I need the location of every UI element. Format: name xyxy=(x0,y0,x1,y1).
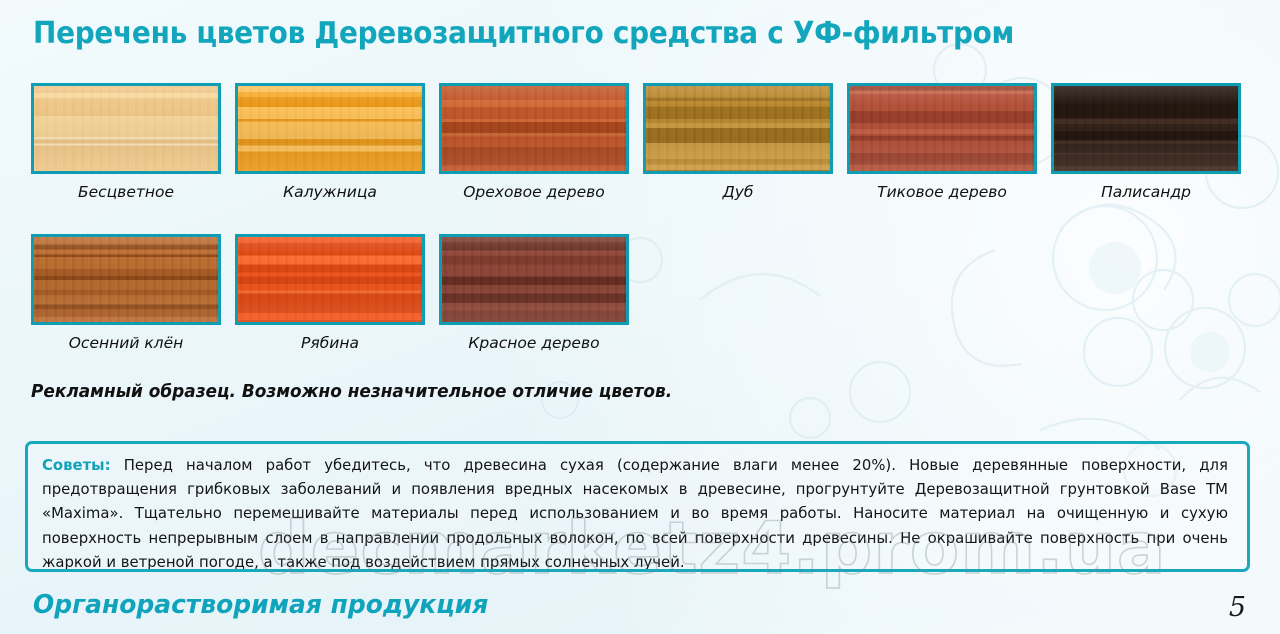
swatch-label: Ореховое дерево xyxy=(439,183,629,201)
swatch-label: Палисандр xyxy=(1051,183,1241,201)
wood-grain-sheen xyxy=(850,86,1034,171)
swatch-chip[interactable] xyxy=(439,83,629,174)
wood-grain-sheen xyxy=(1054,86,1238,171)
swatch-item-ryabina[interactable]: Рябина xyxy=(235,234,425,352)
swatch-chip[interactable] xyxy=(1051,83,1241,174)
wood-grain-texture xyxy=(34,86,218,171)
wood-grain-sheen xyxy=(442,86,626,171)
swatch-row-1: Бесцветное Калужница Ореховое дерево Дуб xyxy=(31,83,1241,201)
swatch-row-2: Осенний клён Рябина Красное дерево xyxy=(31,234,629,352)
swatch-chip[interactable] xyxy=(439,234,629,325)
wood-grain-texture xyxy=(442,237,626,322)
swatch-label: Осенний клён xyxy=(31,334,221,352)
wood-grain-texture xyxy=(850,86,1034,171)
wood-grain-texture xyxy=(238,237,422,322)
wood-grain-texture xyxy=(238,86,422,171)
swatch-label: Бесцветное xyxy=(31,183,221,201)
swatch-chip[interactable] xyxy=(847,83,1037,174)
disclaimer-text: Рекламный образец. Возможно незначительн… xyxy=(31,381,672,402)
swatch-item-orekhovoe-derevo[interactable]: Ореховое дерево xyxy=(439,83,629,201)
swatch-item-bestsvetnoe[interactable]: Бесцветное xyxy=(31,83,221,201)
wood-grain-texture xyxy=(442,86,626,171)
tips-label: Советы: xyxy=(42,456,111,474)
wood-grain-texture xyxy=(34,237,218,322)
tips-text: Советы: Перед началом работ убедитесь, ч… xyxy=(42,453,1228,572)
wood-grain-sheen xyxy=(238,237,422,322)
wood-grain-sheen xyxy=(34,86,218,171)
swatch-chip[interactable] xyxy=(31,234,221,325)
swatch-label: Калужница xyxy=(235,183,425,201)
wood-grain-texture xyxy=(646,86,830,171)
wood-grain-sheen xyxy=(34,237,218,322)
swatch-label: Рябина xyxy=(235,334,425,352)
swatch-item-palisandr[interactable]: Палисандр xyxy=(1051,83,1241,201)
footer-title: Органорастворимая продукция xyxy=(33,590,488,620)
tips-box: Советы: Перед началом работ убедитесь, ч… xyxy=(25,441,1250,572)
wood-grain-texture xyxy=(1054,86,1238,171)
wood-grain-sheen xyxy=(442,237,626,322)
swatch-item-tikovoe-derevo[interactable]: Тиковое дерево xyxy=(847,83,1037,201)
swatch-chip[interactable] xyxy=(643,83,833,174)
swatch-item-osenniy-klen[interactable]: Осенний клён xyxy=(31,234,221,352)
catalog-page: Перечень цветов Деревозащитного средства… xyxy=(0,0,1280,634)
swatch-item-dub[interactable]: Дуб xyxy=(643,83,833,201)
swatch-label: Дуб xyxy=(643,183,833,201)
swatch-item-kaluzhnitsa[interactable]: Калужница xyxy=(235,83,425,201)
swatch-chip[interactable] xyxy=(235,83,425,174)
swatch-chip[interactable] xyxy=(235,234,425,325)
page-title: Перечень цветов Деревозащитного средства… xyxy=(33,16,1014,51)
tips-body: Перед началом работ убедитесь, что древе… xyxy=(42,456,1228,571)
swatch-item-krasnoe-derevo[interactable]: Красное дерево xyxy=(439,234,629,352)
swatch-chip[interactable] xyxy=(31,83,221,174)
swatch-label: Красное дерево xyxy=(439,334,629,352)
wood-grain-sheen xyxy=(646,86,830,171)
swatch-label: Тиковое дерево xyxy=(847,183,1037,201)
page-number: 5 xyxy=(1229,592,1246,623)
wood-grain-sheen xyxy=(238,86,422,171)
